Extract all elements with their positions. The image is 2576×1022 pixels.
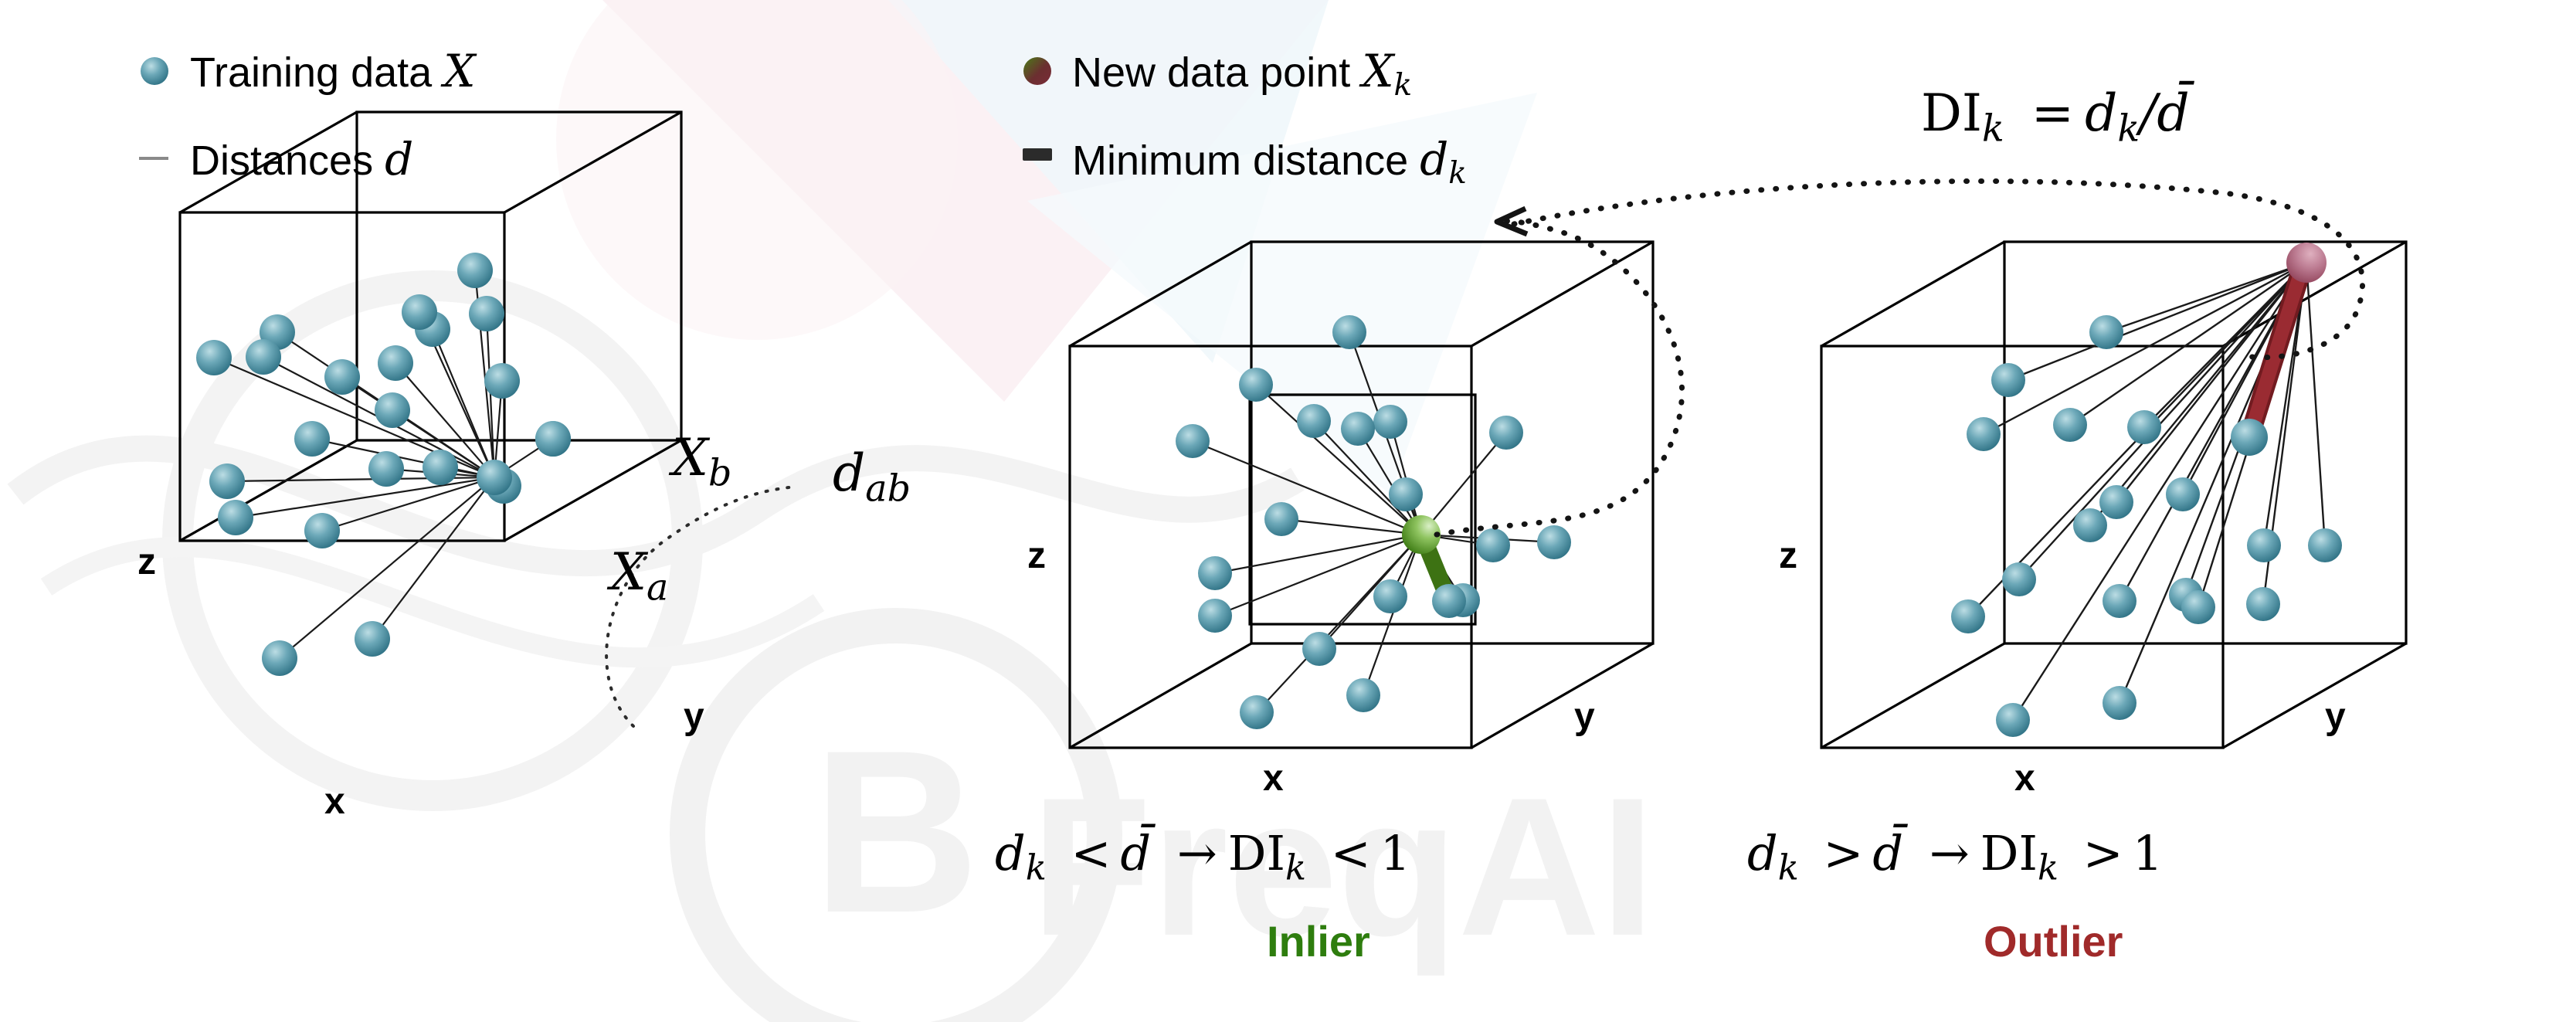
caption-outlier: dk >d̄ →DIk >1 (1747, 825, 2163, 888)
formula-numerator: d (2085, 83, 2117, 143)
axis-label-y-outlier: y (2325, 695, 2346, 738)
caption-inlier-a-sub: k (1026, 847, 1047, 888)
formula-slash: / (2140, 83, 2157, 143)
caption-inlier-c-sub: k (1285, 847, 1306, 888)
caption-inlier-a: d (995, 825, 1026, 881)
caption-inlier-val: 1 (1380, 825, 1410, 881)
legend-symbol-d: d (385, 133, 413, 185)
verdict-outlier: Outlier (1984, 916, 2123, 966)
legend-item-new-data-point: New data point Xk (1072, 45, 1412, 103)
legend-symbol-X: X (443, 45, 475, 97)
axis-label-x-inlier: x (1263, 757, 1284, 800)
caption-inlier-arrow: → (1166, 825, 1228, 881)
formula-di-definition: DIk =dk/d̄ (1921, 83, 2190, 150)
caption-outlier-arrow: → (1919, 825, 1980, 881)
annotation-d-ab: dab (833, 443, 911, 510)
legend-label-minimum-distance: Minimum distance (1072, 138, 1420, 184)
annotation-X-a-symbol: X (610, 542, 647, 602)
legend-label-training-data: Training data (190, 49, 443, 96)
annotation-d-ab-symbol: d (833, 443, 865, 503)
legend-symbol-Xk: X (1362, 45, 1393, 97)
legend-symbol-dk-sub: k (1448, 156, 1467, 191)
legend-symbol-dk: d (1420, 133, 1448, 185)
formula-denominator: d̄ (2157, 83, 2189, 143)
caption-outlier-a-sub: k (1778, 847, 1799, 888)
annotation-X-b-sub: b (708, 452, 731, 494)
annotation-d-ab-sub: ab (865, 467, 911, 510)
axis-label-z-training: z (137, 541, 156, 583)
annotation-X-b-symbol: X (672, 428, 708, 487)
annotation-X-b: Xb (672, 428, 731, 494)
legend-item-distances: Distances d (190, 133, 413, 185)
axis-label-x-outlier: x (2014, 757, 2035, 800)
caption-outlier-b: d̄ (1872, 825, 1903, 881)
formula-lhs: DI (1921, 83, 1982, 143)
legend-item-minimum-distance: Minimum distance dk (1072, 133, 1467, 191)
legend-label-distances: Distances (190, 138, 385, 184)
legend-label-new-data-point: New data point (1072, 49, 1362, 96)
axis-label-x-training: x (324, 780, 345, 823)
axis-label-y-inlier: y (1574, 695, 1595, 738)
caption-inlier-c: DI (1228, 825, 1285, 881)
formula-lhs-sub: k (1982, 107, 2004, 150)
axis-label-z-outlier: z (1779, 535, 1797, 577)
caption-inlier-rel: < (1061, 825, 1120, 881)
annotation-X-a: Xa (610, 542, 668, 609)
caption-outlier-a: d (1747, 825, 1778, 881)
formula-equals: = (2021, 83, 2085, 143)
legend-item-training-data: Training data X (190, 45, 476, 97)
legend-marker-min-distance-dash (1023, 148, 1052, 161)
caption-outlier-val: 1 (2133, 825, 2163, 881)
legend-marker-new-point-dot (1023, 57, 1051, 85)
caption-inlier-rel2: < (1322, 825, 1380, 881)
formula-numerator-sub: k (2117, 107, 2140, 150)
caption-outlier-rel2: > (2074, 825, 2133, 881)
legend-marker-training-dot (141, 57, 168, 85)
caption-inlier: dk <d̄ →DIk <1 (995, 825, 1410, 888)
annotation-X-a-sub: a (647, 566, 668, 609)
diagram-canvas: B FreqAI (0, 0, 2576, 1022)
axis-label-z-inlier: z (1027, 535, 1046, 577)
caption-outlier-c-sub: k (2038, 847, 2058, 888)
axis-label-y-training: y (684, 695, 704, 738)
caption-outlier-rel: > (1814, 825, 1872, 881)
caption-outlier-c: DI (1980, 825, 2038, 881)
caption-inlier-b: d̄ (1120, 825, 1151, 881)
verdict-inlier: Inlier (1267, 916, 1370, 966)
legend-symbol-Xk-sub: k (1394, 68, 1413, 103)
